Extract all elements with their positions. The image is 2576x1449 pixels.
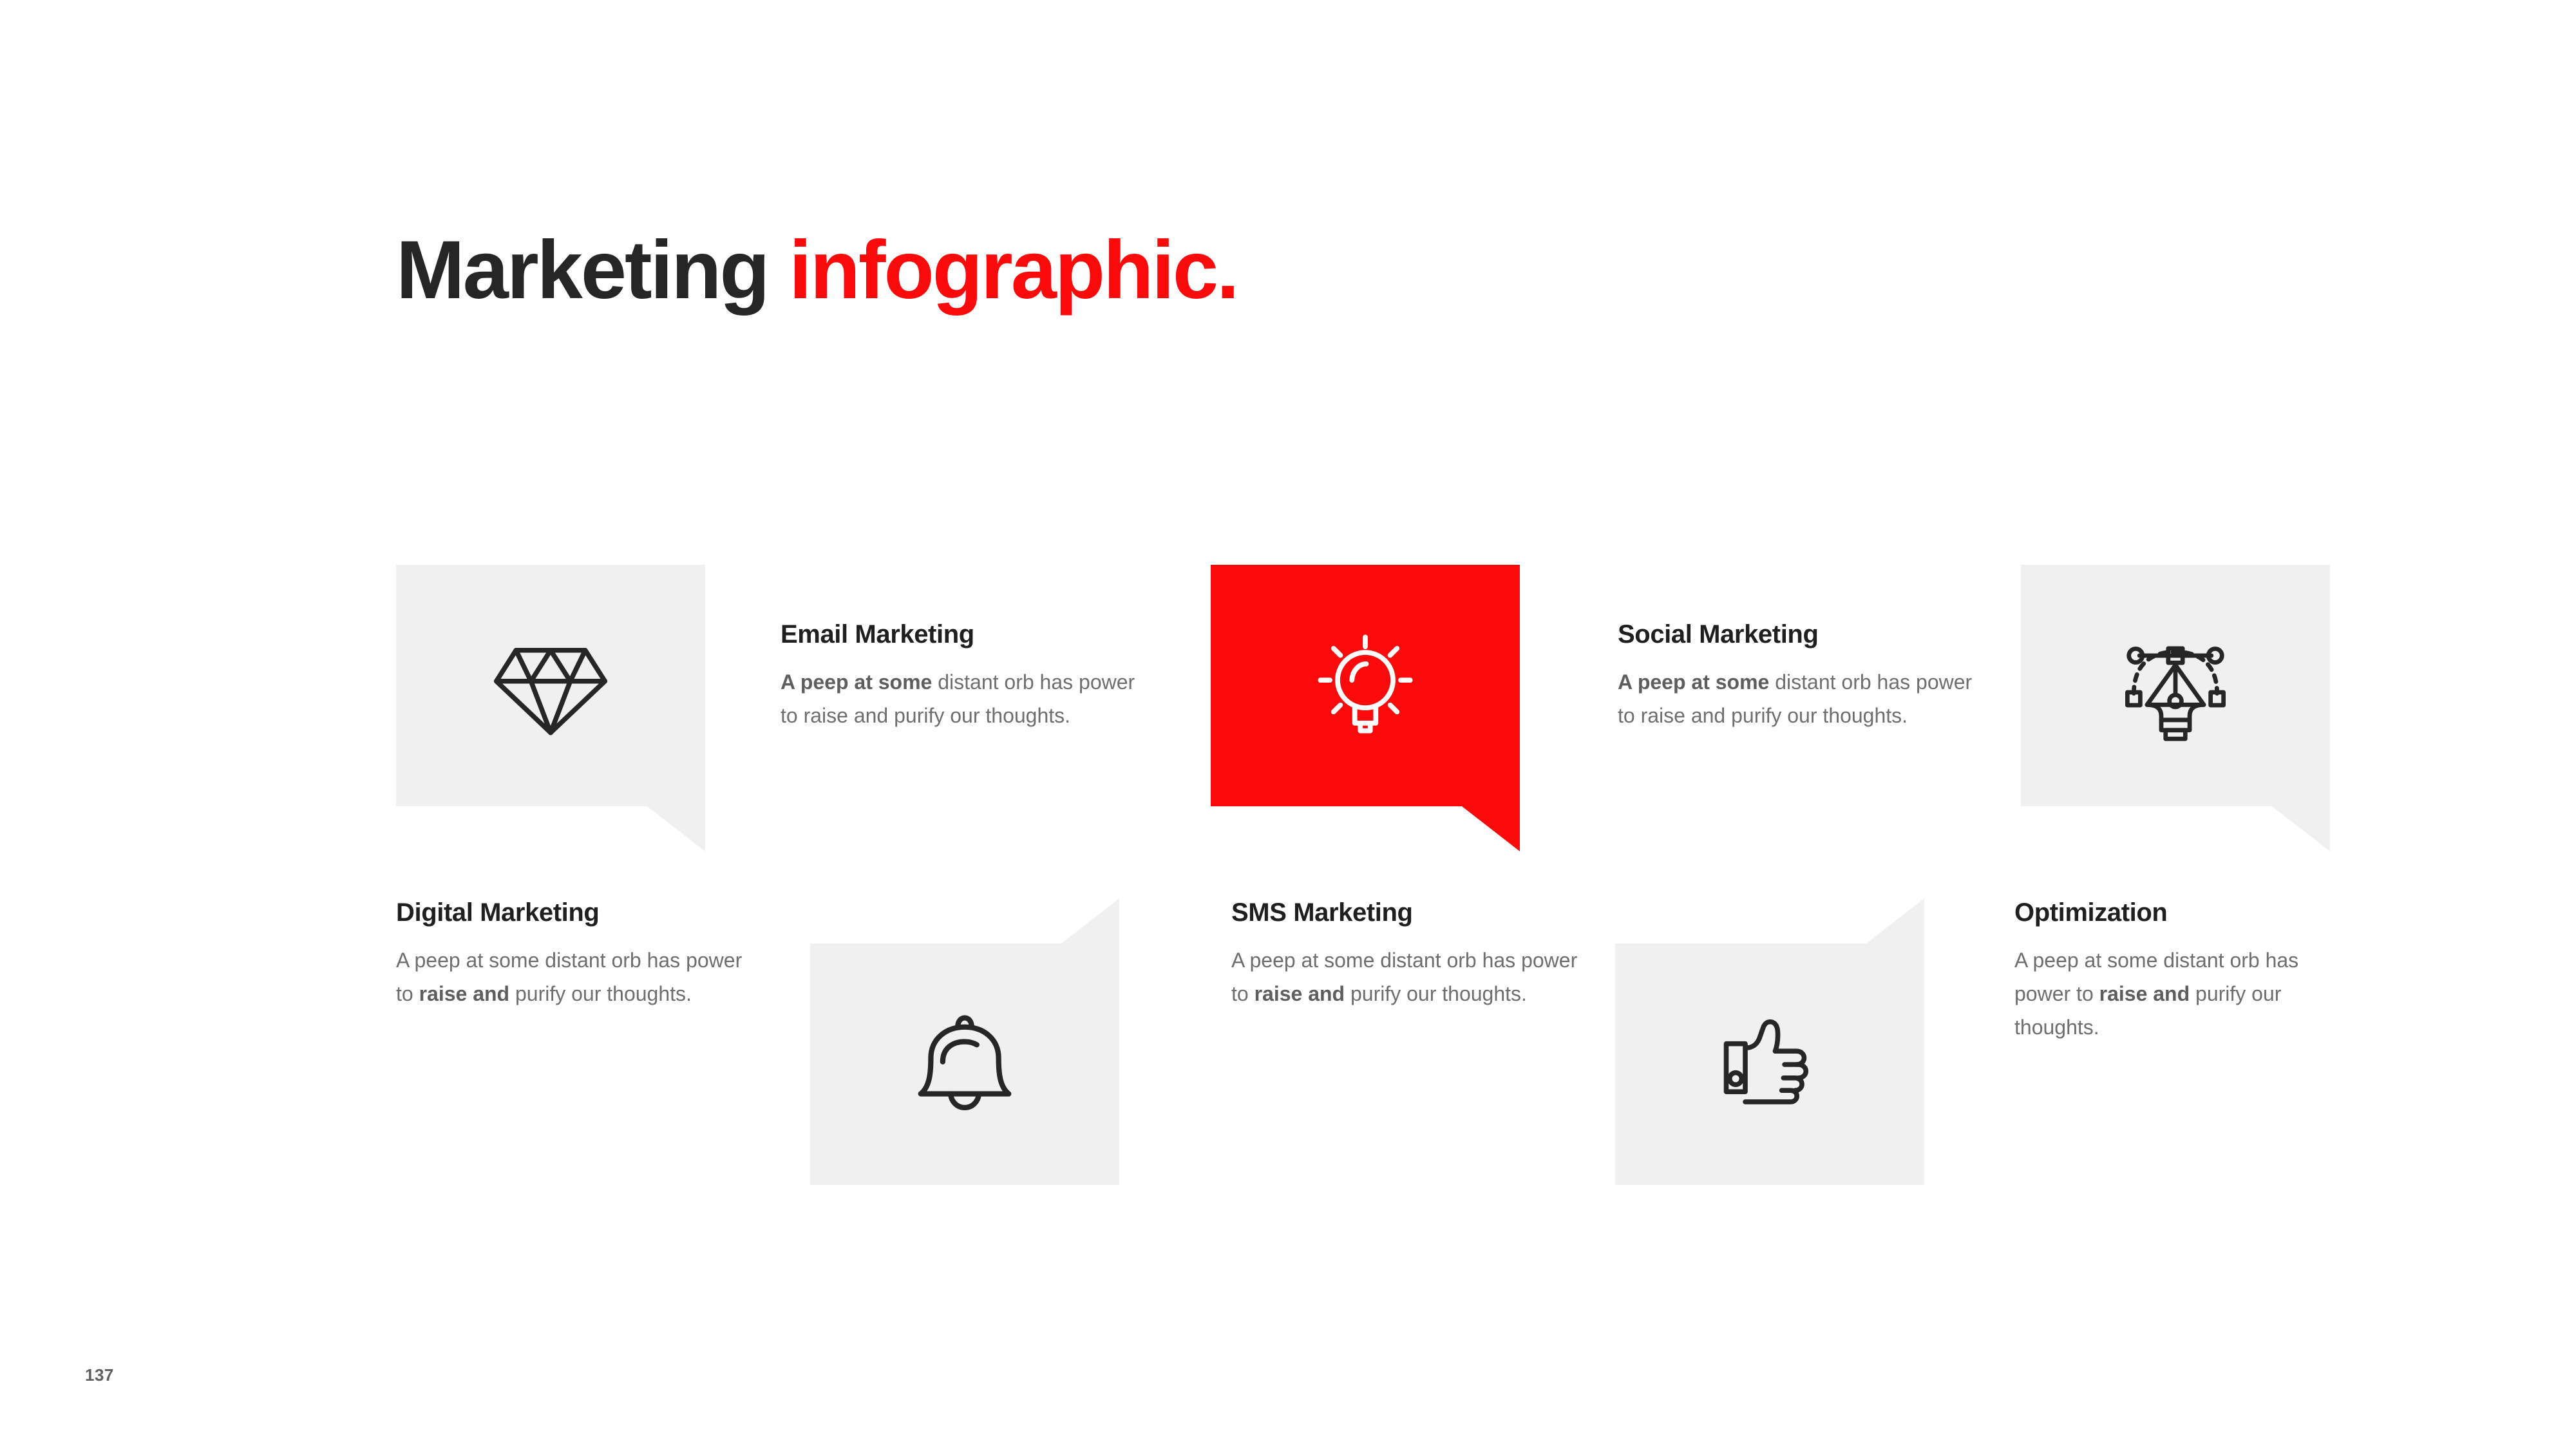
lightbulb-icon bbox=[1304, 625, 1426, 747]
thumbs-up-card[interactable] bbox=[1615, 898, 1924, 1185]
thumbs-up-icon bbox=[1712, 1007, 1828, 1122]
pen-tool-card[interactable] bbox=[2021, 565, 2330, 851]
diamond-card[interactable] bbox=[396, 565, 705, 851]
item-heading-social-marketing: Social Marketing bbox=[1618, 620, 1985, 649]
item-heading-digital-marketing: Digital Marketing bbox=[396, 898, 744, 927]
item-body-optimization: A peep at some distant orb has power to … bbox=[2014, 944, 2343, 1044]
diamond-icon bbox=[491, 626, 611, 746]
item-body-social-marketing: A peep at some distant orb has power to … bbox=[1618, 666, 1985, 733]
body-tail: purify our thoughts. bbox=[1345, 982, 1527, 1005]
item-digital-marketing: Digital Marketing A peep at some distant… bbox=[396, 898, 744, 1011]
thumbs-up-icon-wrap bbox=[1615, 943, 1924, 1185]
page-title-part-red: infographic. bbox=[789, 224, 1237, 316]
body-bold: A peep at some bbox=[781, 670, 932, 694]
body-bold: raise and bbox=[2099, 982, 2190, 1005]
bell-icon-wrap bbox=[810, 943, 1119, 1185]
item-body-email-marketing: A peep at some distant orb has power to … bbox=[781, 666, 1148, 733]
body-bold: raise and bbox=[1255, 982, 1345, 1005]
item-heading-optimization: Optimization bbox=[2014, 898, 2343, 927]
item-optimization: Optimization A peep at some distant orb … bbox=[2014, 898, 2343, 1044]
lightbulb-card[interactable] bbox=[1211, 565, 1520, 851]
item-email-marketing: Email Marketing A peep at some distant o… bbox=[781, 620, 1148, 733]
body-bold: raise and bbox=[419, 982, 510, 1005]
item-body-sms-marketing: A peep at some distant orb has power to … bbox=[1231, 944, 1582, 1011]
page-title: Marketing infographic. bbox=[396, 225, 1238, 316]
diamond-icon-wrap bbox=[396, 565, 705, 806]
bell-icon bbox=[906, 1006, 1023, 1123]
item-social-marketing: Social Marketing A peep at some distant … bbox=[1618, 620, 1985, 733]
item-sms-marketing: SMS Marketing A peep at some distant orb… bbox=[1231, 898, 1582, 1011]
bell-card[interactable] bbox=[810, 898, 1119, 1185]
body-bold: A peep at some bbox=[1618, 670, 1769, 694]
body-tail: purify our thoughts. bbox=[509, 982, 692, 1005]
pen-tool-icon bbox=[2115, 625, 2236, 746]
page-title-part-black: Marketing bbox=[396, 224, 789, 316]
pen-tool-icon-wrap bbox=[2021, 565, 2330, 806]
page-number: 137 bbox=[85, 1365, 114, 1385]
item-body-digital-marketing: A peep at some distant orb has power to … bbox=[396, 944, 744, 1011]
lightbulb-icon-wrap bbox=[1211, 565, 1520, 806]
item-heading-email-marketing: Email Marketing bbox=[781, 620, 1148, 649]
item-heading-sms-marketing: SMS Marketing bbox=[1231, 898, 1582, 927]
